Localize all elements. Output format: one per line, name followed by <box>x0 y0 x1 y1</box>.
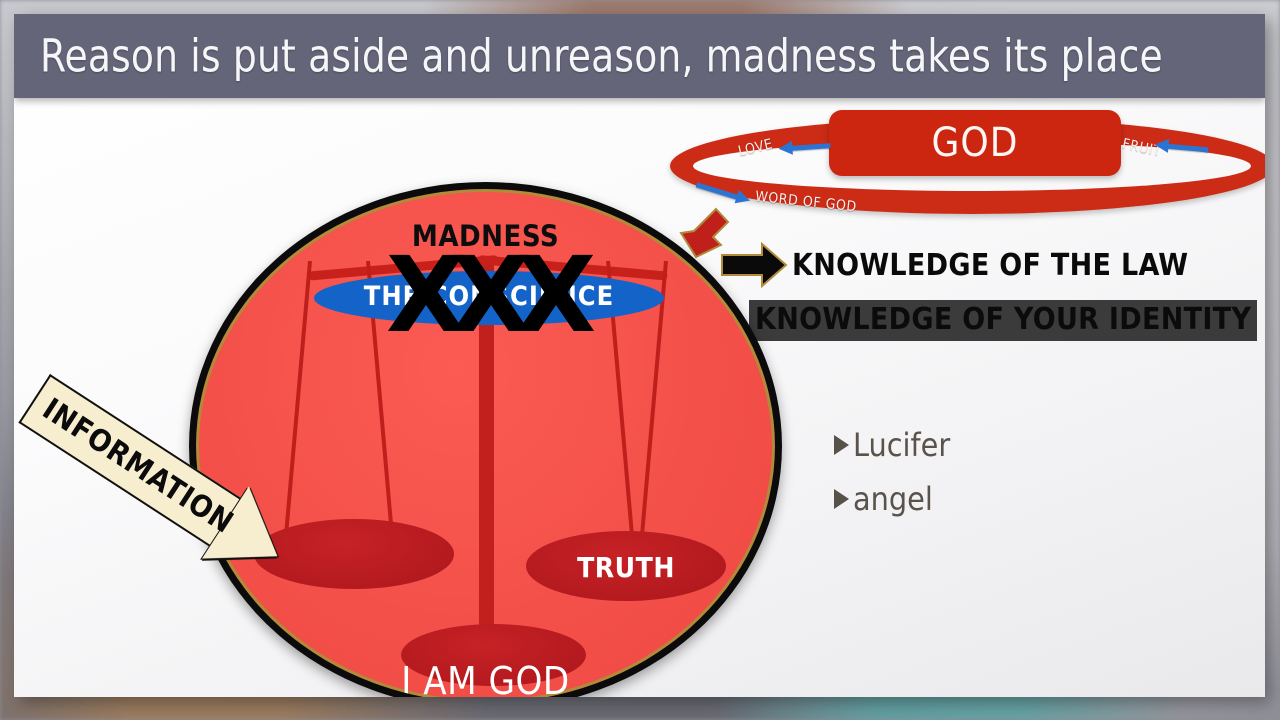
list-item: Lucifer <box>834 426 950 464</box>
god-label: GOD <box>829 110 1121 176</box>
knowledge-of-the-law-text: KNOWLEDGE OF THE LAW <box>792 248 1188 283</box>
scale-pan-right: TRUTH <box>526 531 726 601</box>
madness-scale-diagram: TRUTH I AM GOD MADNESS THE CONSCIENCE X … <box>174 169 794 697</box>
bullet-label-angel: angel <box>853 480 933 518</box>
triangle-bullet-icon <box>834 489 849 509</box>
red-circle: TRUTH I AM GOD MADNESS THE CONSCIENCE X … <box>189 182 782 697</box>
bullet-label-lucifer: Lucifer <box>853 426 950 464</box>
slide-title: Reason is put aside and unreason, madnes… <box>40 30 1163 83</box>
bullet-list: Lucifer angel <box>834 426 950 534</box>
cross-out-x-icon: X <box>451 249 515 345</box>
god-box: GOD <box>829 110 1121 176</box>
scale-wire <box>283 261 312 550</box>
scale-pan-right-label: TRUTH <box>526 551 726 584</box>
knowledge-of-your-identity-text: KNOWLEDGE OF YOUR IDENTITY <box>749 300 1257 341</box>
presentation-slide: Reason is put aside and unreason, madnes… <box>14 14 1265 697</box>
cross-out-x-icon: X <box>386 249 450 345</box>
triangle-bullet-icon <box>834 435 849 455</box>
i-am-god-label: I AM GOD <box>196 659 775 697</box>
cross-out-x-icon: X <box>516 249 580 345</box>
list-item: angel <box>834 480 950 518</box>
slide-title-bar: Reason is put aside and unreason, madnes… <box>14 14 1265 98</box>
